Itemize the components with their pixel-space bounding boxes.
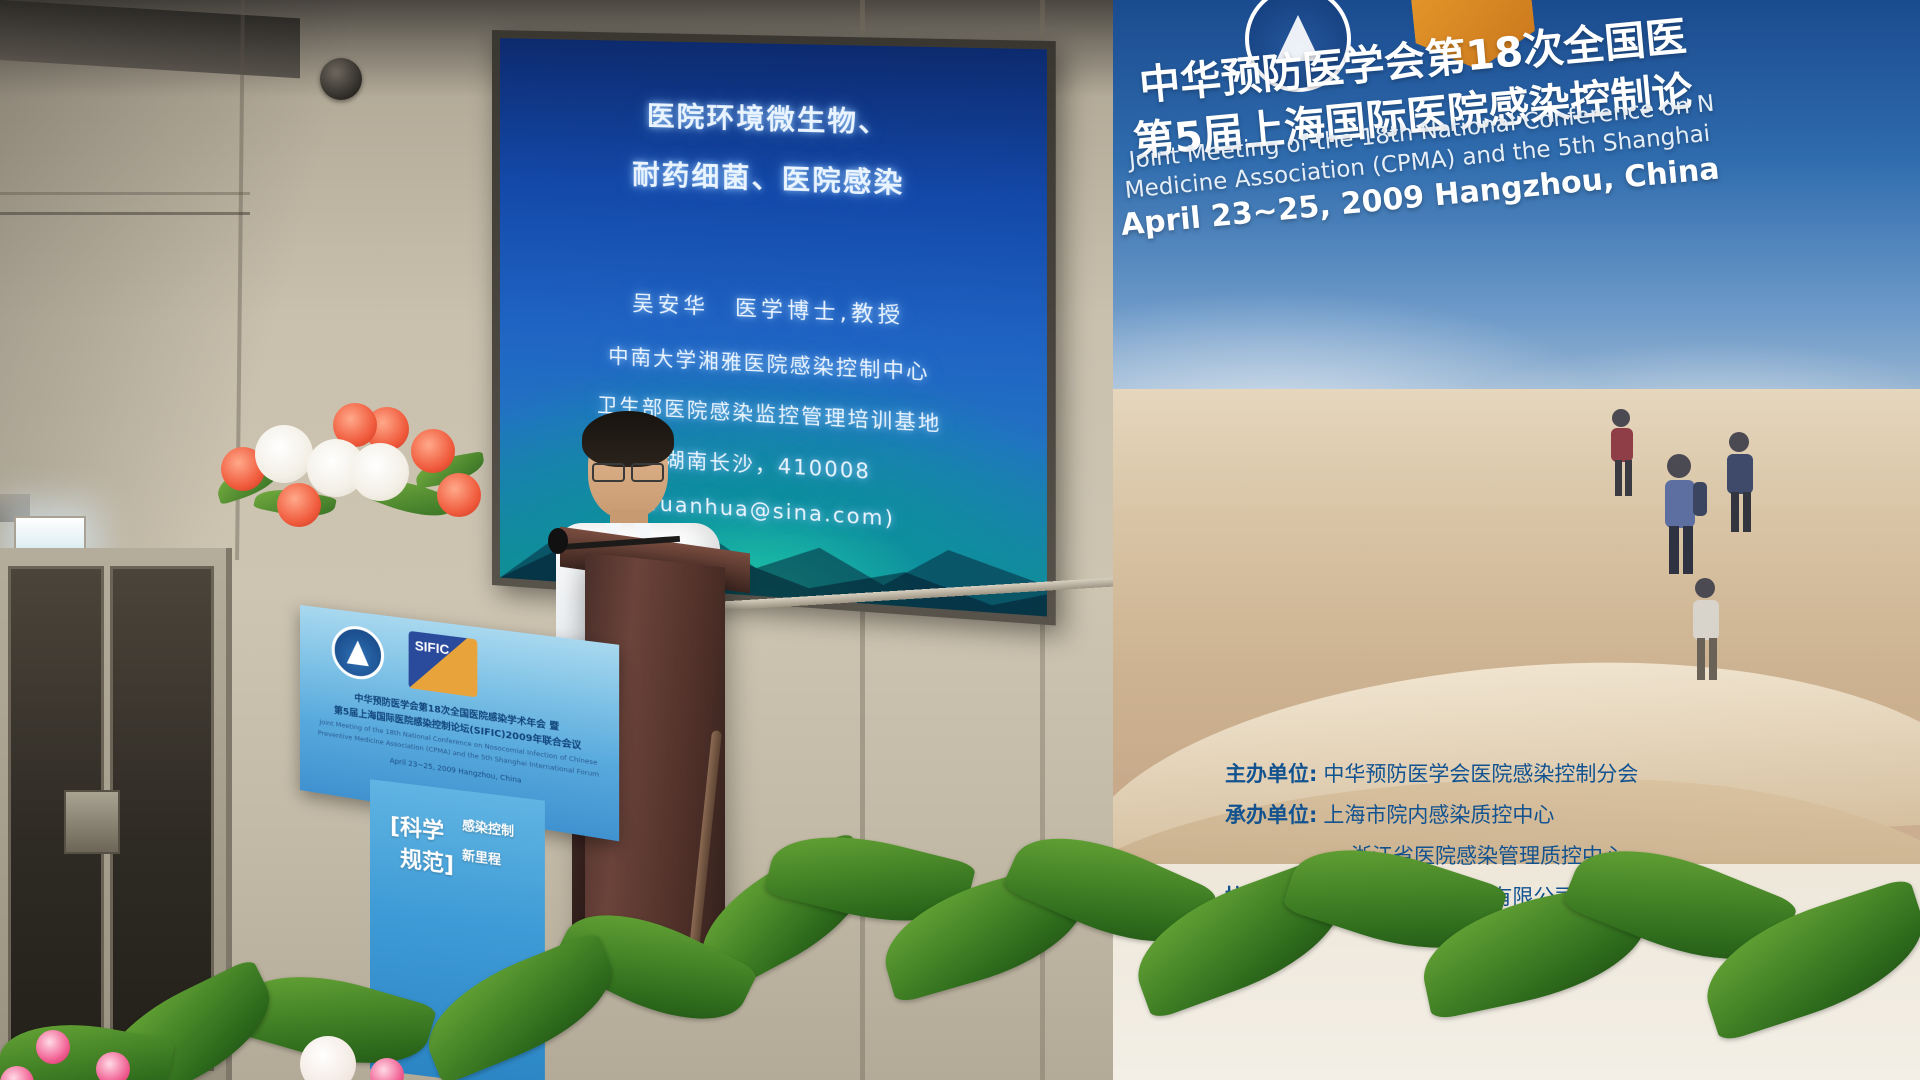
- ceiling-speaker-icon: [320, 58, 362, 100]
- flower-bouquet: [215, 395, 495, 555]
- banner-organizers: 主办单位: 中华预防医学会医院感染控制分会 承办单位: 上海市院内感染质控中心 …: [1225, 758, 1920, 922]
- rose-flower: [411, 429, 455, 473]
- slide-title-line-2: 耐药细菌、医院感染: [500, 148, 1047, 206]
- slogan-right-top: 感染控制: [462, 815, 514, 840]
- hiker-icon: [1693, 578, 1719, 680]
- speaker-hair: [582, 411, 674, 467]
- organizer-row: 承办单位: 上海市院内感染质控中心: [1225, 799, 1920, 829]
- organizer-label: 承办单位:: [1225, 799, 1317, 829]
- lily-flower: [351, 443, 409, 501]
- wall-seam: [0, 212, 250, 215]
- organizer-label: 主办单位:: [1225, 758, 1317, 788]
- sific-logo-icon: SIFIC: [409, 631, 478, 698]
- rose-flower: [277, 483, 321, 527]
- organizer-value: 杭州浙教会议服务有限公司: [1323, 881, 1575, 911]
- ceiling-edge: [0, 0, 300, 78]
- sific-logo-text: SIFIC: [415, 638, 449, 658]
- slide-title-line-1: 医院环境微生物、: [500, 90, 1047, 145]
- organizer-row: 主办单位: 中华预防医学会医院感染控制分会: [1225, 758, 1920, 788]
- hiker-icon: [1611, 409, 1633, 496]
- organizer-label: 协办单位:: [1225, 881, 1317, 911]
- organizer-value: 上海市院内感染质控中心: [1323, 799, 1554, 829]
- conference-backdrop-banner: 中华预防医学会第18次全国医 第5届上海国际医院感染控制论 Joint Meet…: [1113, 0, 1920, 1080]
- conference-photo-scene: 医院环境微生物、 耐药细菌、医院感染 吴安华 医学博士,教授 中南大学湘雅医院感…: [0, 0, 1920, 1080]
- podium-lower-panel: [科学 规范] 感染控制 新里程: [370, 779, 545, 1080]
- rose-flower: [437, 473, 481, 517]
- slogan-left-bottom: 规范]: [400, 841, 454, 880]
- wall-seam: [0, 192, 250, 195]
- cpma-emblem-icon: [332, 623, 384, 683]
- hikers-group: [1593, 400, 1813, 720]
- door-vent: [64, 790, 120, 854]
- organizer-row: 协办单位: 杭州浙教会议服务有限公司: [1225, 881, 1920, 911]
- organizer-sub-value: 浙江省医院感染管理质控中心: [1351, 840, 1920, 870]
- hiker-icon: [1665, 454, 1707, 574]
- hiker-icon: [1727, 432, 1753, 532]
- lily-flower: [255, 425, 313, 483]
- slogan-right-bottom: 新里程: [462, 845, 501, 869]
- slide-organization-1: 中南大学湘雅医院感染控制中心: [500, 334, 1047, 391]
- slide-author: 吴安华 医学博士,教授: [500, 281, 1047, 336]
- microphone-icon: [548, 528, 568, 554]
- slogan-left-top: [科学: [390, 808, 444, 847]
- door-right[interactable]: [110, 566, 214, 1071]
- organizer-value: 中华预防医学会医院感染控制分会: [1323, 758, 1638, 788]
- speaker-glasses: [592, 463, 664, 478]
